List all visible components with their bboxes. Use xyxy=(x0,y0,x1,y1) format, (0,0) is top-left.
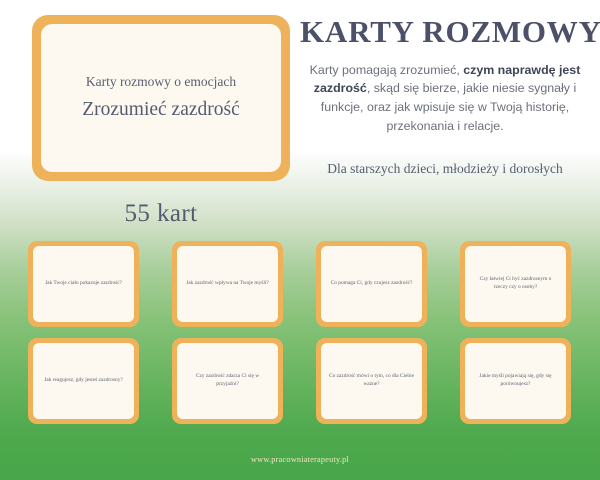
sample-card-question: Jak zazdrość wpływa na Twoje myśli? xyxy=(186,280,269,288)
sample-card-question: Co zazdrość mówi o tym, co dla Ciebie wa… xyxy=(328,373,415,389)
sample-card-question: Jak Twoje ciało pokazuje zazdrość? xyxy=(45,280,122,288)
sample-card-question: Jakie myśli pojawiają się, gdy się porów… xyxy=(472,373,559,389)
sample-card-face: Czy zazdrość zdarza Ci się w przyjaźni? xyxy=(177,343,278,419)
sample-card: Czy zazdrość zdarza Ci się w przyjaźni? xyxy=(172,338,283,424)
sample-card-face: Jak Twoje ciało pokazuje zazdrość? xyxy=(33,246,134,322)
sample-card: Jak Twoje ciało pokazuje zazdrość? xyxy=(28,241,139,327)
page-title: KARTY ROZMOWY xyxy=(300,16,590,49)
sample-card-grid: Jak Twoje ciało pokazuje zazdrość? Jak z… xyxy=(28,241,573,424)
card-count-label: 55 kart xyxy=(32,200,290,228)
sample-card-face: Czy łatwiej Ci być zazdrosnym o rzeczy c… xyxy=(465,246,566,322)
sample-card: Jak reagujesz, gdy jesteś zazdrosny? xyxy=(28,338,139,424)
hero-eyebrow: Karty rozmowy o emocjach xyxy=(86,74,236,91)
poster-canvas: Karty rozmowy o emocjach Zrozumieć zazdr… xyxy=(0,0,600,480)
sample-card-face: Jakie myśli pojawiają się, gdy się porów… xyxy=(465,343,566,419)
description-part-1: Karty pomagają zrozumieć, xyxy=(310,63,464,77)
sample-card-question: Czy zazdrość zdarza Ci się w przyjaźni? xyxy=(184,373,271,389)
description-paragraph: Karty pomagają zrozumieć, czym naprawdę … xyxy=(300,61,590,136)
sample-card-question: Czy łatwiej Ci być zazdrosnym o rzeczy c… xyxy=(472,276,559,292)
hero-card-face: Karty rozmowy o emocjach Zrozumieć zazdr… xyxy=(41,24,281,172)
hero-title: Zrozumieć zazdrość xyxy=(82,98,240,121)
sample-card-face: Co zazdrość mówi o tym, co dla Ciebie wa… xyxy=(321,343,422,419)
sample-card-question: Co pomaga Ci, gdy czujesz zazdrość? xyxy=(331,280,413,288)
sample-card: Jakie myśli pojawiają się, gdy się porów… xyxy=(460,338,571,424)
sample-card-question: Jak reagujesz, gdy jesteś zazdrosny? xyxy=(44,377,123,385)
sample-card-face: Co pomaga Ci, gdy czujesz zazdrość? xyxy=(321,246,422,322)
sample-card-face: Jak zazdrość wpływa na Twoje myśli? xyxy=(177,246,278,322)
header-column: KARTY ROZMOWY Karty pomagają zrozumieć, … xyxy=(300,16,590,178)
footer-url: www.pracowniaterapeuty.pl xyxy=(0,455,600,464)
sample-card-face: Jak reagujesz, gdy jesteś zazdrosny? xyxy=(33,343,134,419)
sample-card: Czy łatwiej Ci być zazdrosnym o rzeczy c… xyxy=(460,241,571,327)
sample-card: Jak zazdrość wpływa na Twoje myśli? xyxy=(172,241,283,327)
audience-note: Dla starszych dzieci, młodzieży i dorosł… xyxy=(300,160,590,178)
sample-card: Co zazdrość mówi o tym, co dla Ciebie wa… xyxy=(316,338,427,424)
hero-card: Karty rozmowy o emocjach Zrozumieć zazdr… xyxy=(32,15,290,181)
sample-card: Co pomaga Ci, gdy czujesz zazdrość? xyxy=(316,241,427,327)
